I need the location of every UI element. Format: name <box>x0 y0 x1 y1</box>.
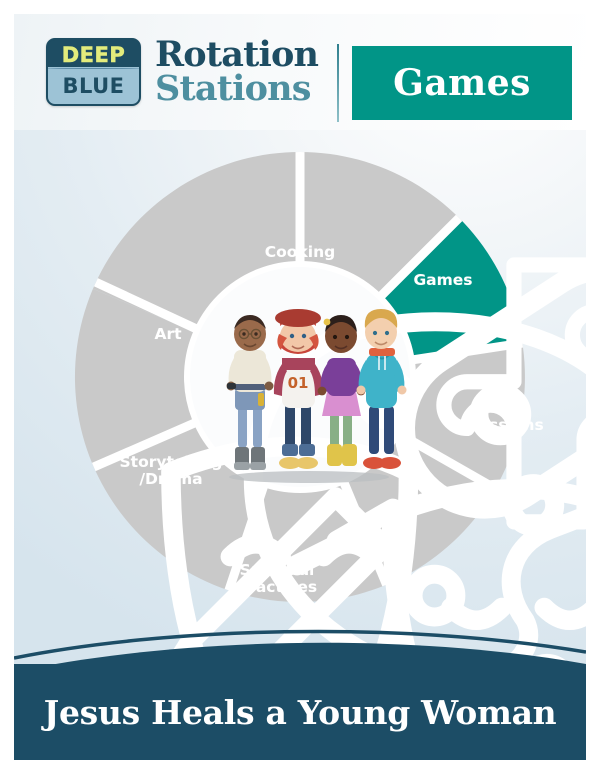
brand-wordmark: Rotation Stations <box>155 39 318 105</box>
logo-blue-text: BLUE <box>62 76 124 97</box>
logo-blue-band: BLUE <box>48 69 139 104</box>
cover-page: DEEP BLUE Rotation Stations Games <box>0 0 600 776</box>
four-children-illustration: 01 <box>209 296 409 486</box>
footer-area: Jesus Heals a Young Woman <box>14 624 586 760</box>
child-2: 01 <box>274 309 323 469</box>
station-banner: Games <box>352 46 572 120</box>
brand-logo: DEEP BLUE Rotation Stations <box>46 38 318 106</box>
lesson-title: Jesus Heals a Young Woman <box>44 693 557 732</box>
wordmark-rotation: Rotation <box>155 39 318 71</box>
lesson-title-bar: Jesus Heals a Young Woman <box>14 664 586 760</box>
logo-deep-text: DEEP <box>62 45 126 66</box>
wordmark-stations: Stations <box>155 73 318 105</box>
deep-blue-logo: DEEP BLUE <box>46 38 141 106</box>
logo-deep-band: DEEP <box>48 40 139 70</box>
station-banner-label: Games <box>393 62 531 104</box>
header-divider <box>337 44 339 122</box>
cover-sheet: DEEP BLUE Rotation Stations Games <box>14 14 586 760</box>
child-1 <box>227 315 274 470</box>
svg-text:01: 01 <box>288 374 309 392</box>
page-header: DEEP BLUE Rotation Stations Games <box>14 14 586 130</box>
child-4 <box>357 309 407 469</box>
